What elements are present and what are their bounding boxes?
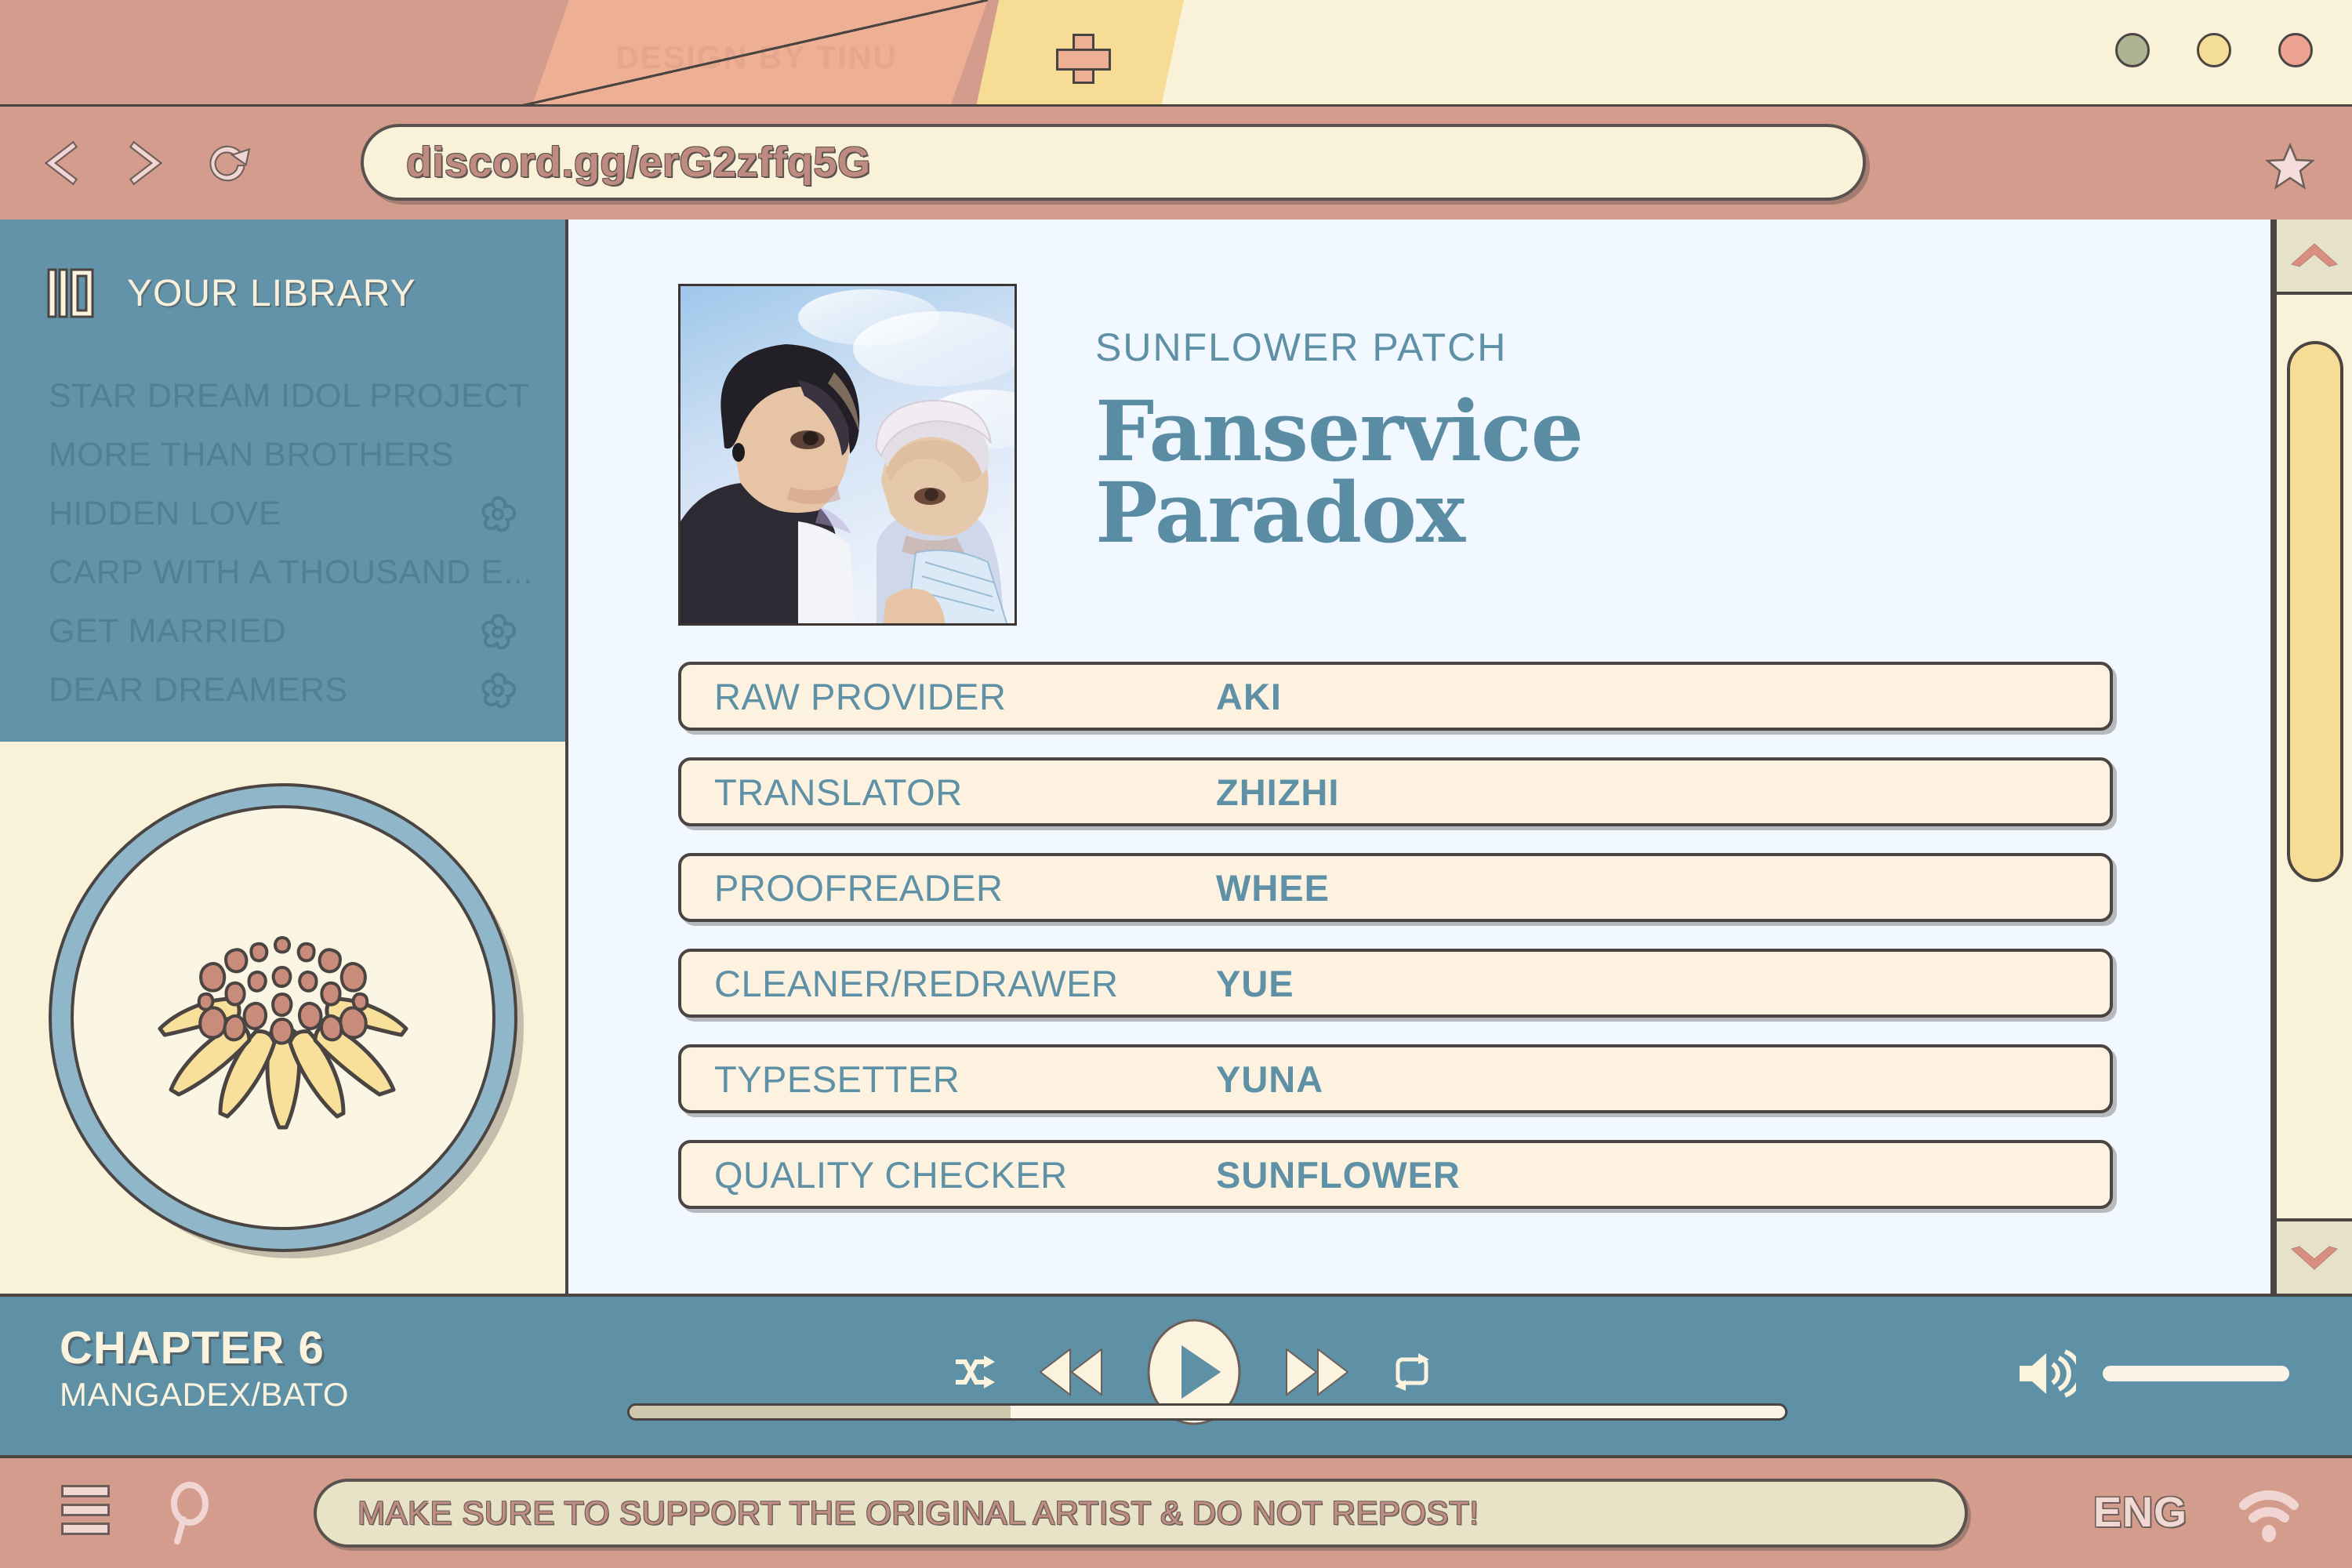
series-header: SUNFLOWER PATCH Fanservice Paradox	[678, 284, 2270, 626]
search-icon[interactable]	[166, 1482, 213, 1544]
notice-banner: MAKE SURE TO SUPPORT THE ORIGINAL ARTIST…	[314, 1479, 1968, 1548]
chevron-down-icon	[2290, 1244, 2339, 1271]
playback-progress[interactable]	[627, 1403, 1788, 1421]
page-title: Fanservice Paradox	[1095, 390, 1583, 554]
list-item[interactable]: DEAR DREAMERS	[0, 661, 565, 720]
table-row[interactable]: PROOFREADER WHEE	[678, 853, 2113, 922]
language-indicator[interactable]: ENG	[2093, 1488, 2187, 1537]
credit-name: ZHIZHI	[1216, 771, 1339, 814]
library-item-label: GET MARRIED	[49, 612, 286, 651]
shuffle-button[interactable]	[953, 1354, 996, 1390]
address-bar-region: discord.gg/erG2zffq5G	[0, 107, 2352, 220]
shuffle-icon	[953, 1354, 996, 1390]
chevron-up-icon	[2290, 242, 2339, 269]
status-bar: MAKE SURE TO SUPPORT THE ORIGINAL ARTIST…	[0, 1458, 2352, 1568]
new-tab-button[interactable]	[976, 0, 1184, 107]
flower-settings-icon[interactable]	[479, 672, 517, 710]
progress-fill	[630, 1406, 1011, 1418]
player-bar: CHAPTER 6 MANGADEX/BATO	[0, 1294, 2352, 1458]
hamburger-icon[interactable]	[61, 1485, 110, 1541]
sunflower-logo-panel	[0, 742, 565, 1294]
credit-name: SUNFLOWER	[1216, 1153, 1461, 1196]
table-row[interactable]: TRANSLATOR ZHIZHI	[678, 757, 2113, 826]
now-playing-info: CHAPTER 6 MANGADEX/BATO	[60, 1322, 349, 1414]
table-row[interactable]: TYPESETTER YUNA	[678, 1044, 2113, 1113]
credit-name: YUNA	[1216, 1058, 1323, 1101]
list-item[interactable]: CARP WITH A THOUSAND E...	[0, 543, 565, 602]
next-button[interactable]	[1283, 1346, 1351, 1398]
library-list: STAR DREAM IDOL PROJECT MORE THAN BROTHE…	[0, 367, 565, 720]
plus-icon	[1062, 38, 1098, 74]
previous-button[interactable]	[1037, 1346, 1105, 1398]
address-value: discord.gg/erG2zffq5G	[406, 138, 871, 187]
library-icon	[47, 268, 102, 318]
library-item-label: DEAR DREAMERS	[49, 671, 348, 710]
table-row[interactable]: QUALITY CHECKER SUNFLOWER	[678, 1140, 2113, 1209]
logo-circle	[52, 786, 514, 1249]
flower-settings-icon[interactable]	[479, 613, 517, 651]
scroll-down-button[interactable]	[2277, 1218, 2352, 1294]
scrollbar-thumb[interactable]	[2287, 341, 2343, 882]
tab-design-by-tinu[interactable]: DESIGN BY TINU	[517, 0, 988, 107]
credit-name: YUE	[1216, 962, 1294, 1005]
chapter-title: CHAPTER 6	[60, 1322, 349, 1374]
star-icon[interactable]	[2266, 143, 2314, 190]
hamburger-bar	[61, 1523, 110, 1535]
credit-role: TYPESETTER	[714, 1058, 1216, 1101]
fast-forward-icon	[1283, 1346, 1351, 1398]
volume-control[interactable]	[2016, 1348, 2289, 1399]
hamburger-bar	[61, 1504, 110, 1516]
list-item[interactable]: STAR DREAM IDOL PROJECT	[0, 367, 565, 426]
credit-name: WHEE	[1216, 866, 1330, 909]
series-name: SUNFLOWER PATCH	[1095, 325, 1583, 370]
library-header: YOUR LIBRARY	[47, 268, 565, 318]
library-title: YOUR LIBRARY	[127, 272, 416, 315]
credit-role: PROOFREADER	[714, 866, 1216, 909]
address-input[interactable]: discord.gg/erG2zffq5G	[361, 124, 1866, 201]
sunflower-logo	[114, 869, 452, 1167]
list-item[interactable]: MORE THAN BROTHERS	[0, 426, 565, 485]
credit-role: RAW PROVIDER	[714, 675, 1216, 718]
hamburger-bar	[61, 1485, 110, 1497]
sidebar: YOUR LIBRARY STAR DREAM IDOL PROJECT MOR…	[0, 220, 568, 1294]
chapter-source: MANGADEX/BATO	[60, 1376, 349, 1414]
library-item-label: CARP WITH A THOUSAND E...	[49, 554, 533, 592]
window-controls	[2115, 33, 2313, 67]
tab-strip: DESIGN BY TINU	[0, 0, 2352, 107]
credit-role: CLEANER/REDRAWER	[714, 962, 1216, 1005]
tab-label: DESIGN BY TINU	[608, 31, 898, 76]
title-line-1: Fanservice	[1095, 390, 1583, 472]
library-item-label: STAR DREAM IDOL PROJECT	[49, 377, 530, 416]
chevron-left-icon[interactable]	[38, 139, 86, 187]
scroll-up-button[interactable]	[2277, 220, 2352, 295]
repeat-icon	[1392, 1353, 1432, 1391]
credit-role: TRANSLATOR	[714, 771, 1216, 814]
library-item-label: MORE THAN BROTHERS	[49, 436, 454, 474]
library-item-label: HIDDEN LOVE	[49, 495, 281, 533]
credits-list: RAW PROVIDER AKI TRANSLATOR ZHIZHI PROOF…	[678, 662, 2113, 1209]
credit-role: QUALITY CHECKER	[714, 1153, 1216, 1196]
vertical-scrollbar[interactable]	[2274, 220, 2352, 1294]
volume-slider[interactable]	[2103, 1366, 2289, 1381]
title-text-block: SUNFLOWER PATCH Fanservice Paradox	[1095, 284, 1583, 626]
reload-icon[interactable]	[204, 139, 252, 187]
close-button[interactable]	[2278, 33, 2313, 67]
navigation-buttons	[38, 139, 252, 187]
credit-name: AKI	[1216, 675, 1282, 718]
maximize-button[interactable]	[2197, 33, 2231, 67]
cover-image	[678, 284, 1017, 626]
list-item[interactable]: HIDDEN LOVE	[0, 485, 565, 543]
rewind-icon	[1037, 1346, 1105, 1398]
browser-window: DESIGN BY TINU discord.g	[0, 0, 2352, 1568]
chevron-right-icon[interactable]	[121, 139, 169, 187]
table-row[interactable]: RAW PROVIDER AKI	[678, 662, 2113, 731]
table-row[interactable]: CLEANER/REDRAWER YUE	[678, 949, 2113, 1018]
list-item[interactable]: GET MARRIED	[0, 602, 565, 661]
content-pane: SUNFLOWER PATCH Fanservice Paradox RAW P…	[568, 220, 2274, 1294]
wifi-icon[interactable]	[2236, 1485, 2302, 1543]
repeat-button[interactable]	[1392, 1353, 1432, 1391]
title-line-2: Paradox	[1095, 472, 1583, 554]
main-body: YOUR LIBRARY STAR DREAM IDOL PROJECT MOR…	[0, 220, 2352, 1294]
volume-icon	[2016, 1348, 2076, 1399]
flower-settings-icon[interactable]	[479, 495, 517, 533]
minimize-button[interactable]	[2115, 33, 2150, 67]
notice-text: MAKE SURE TO SUPPORT THE ORIGINAL ARTIST…	[358, 1494, 1479, 1532]
